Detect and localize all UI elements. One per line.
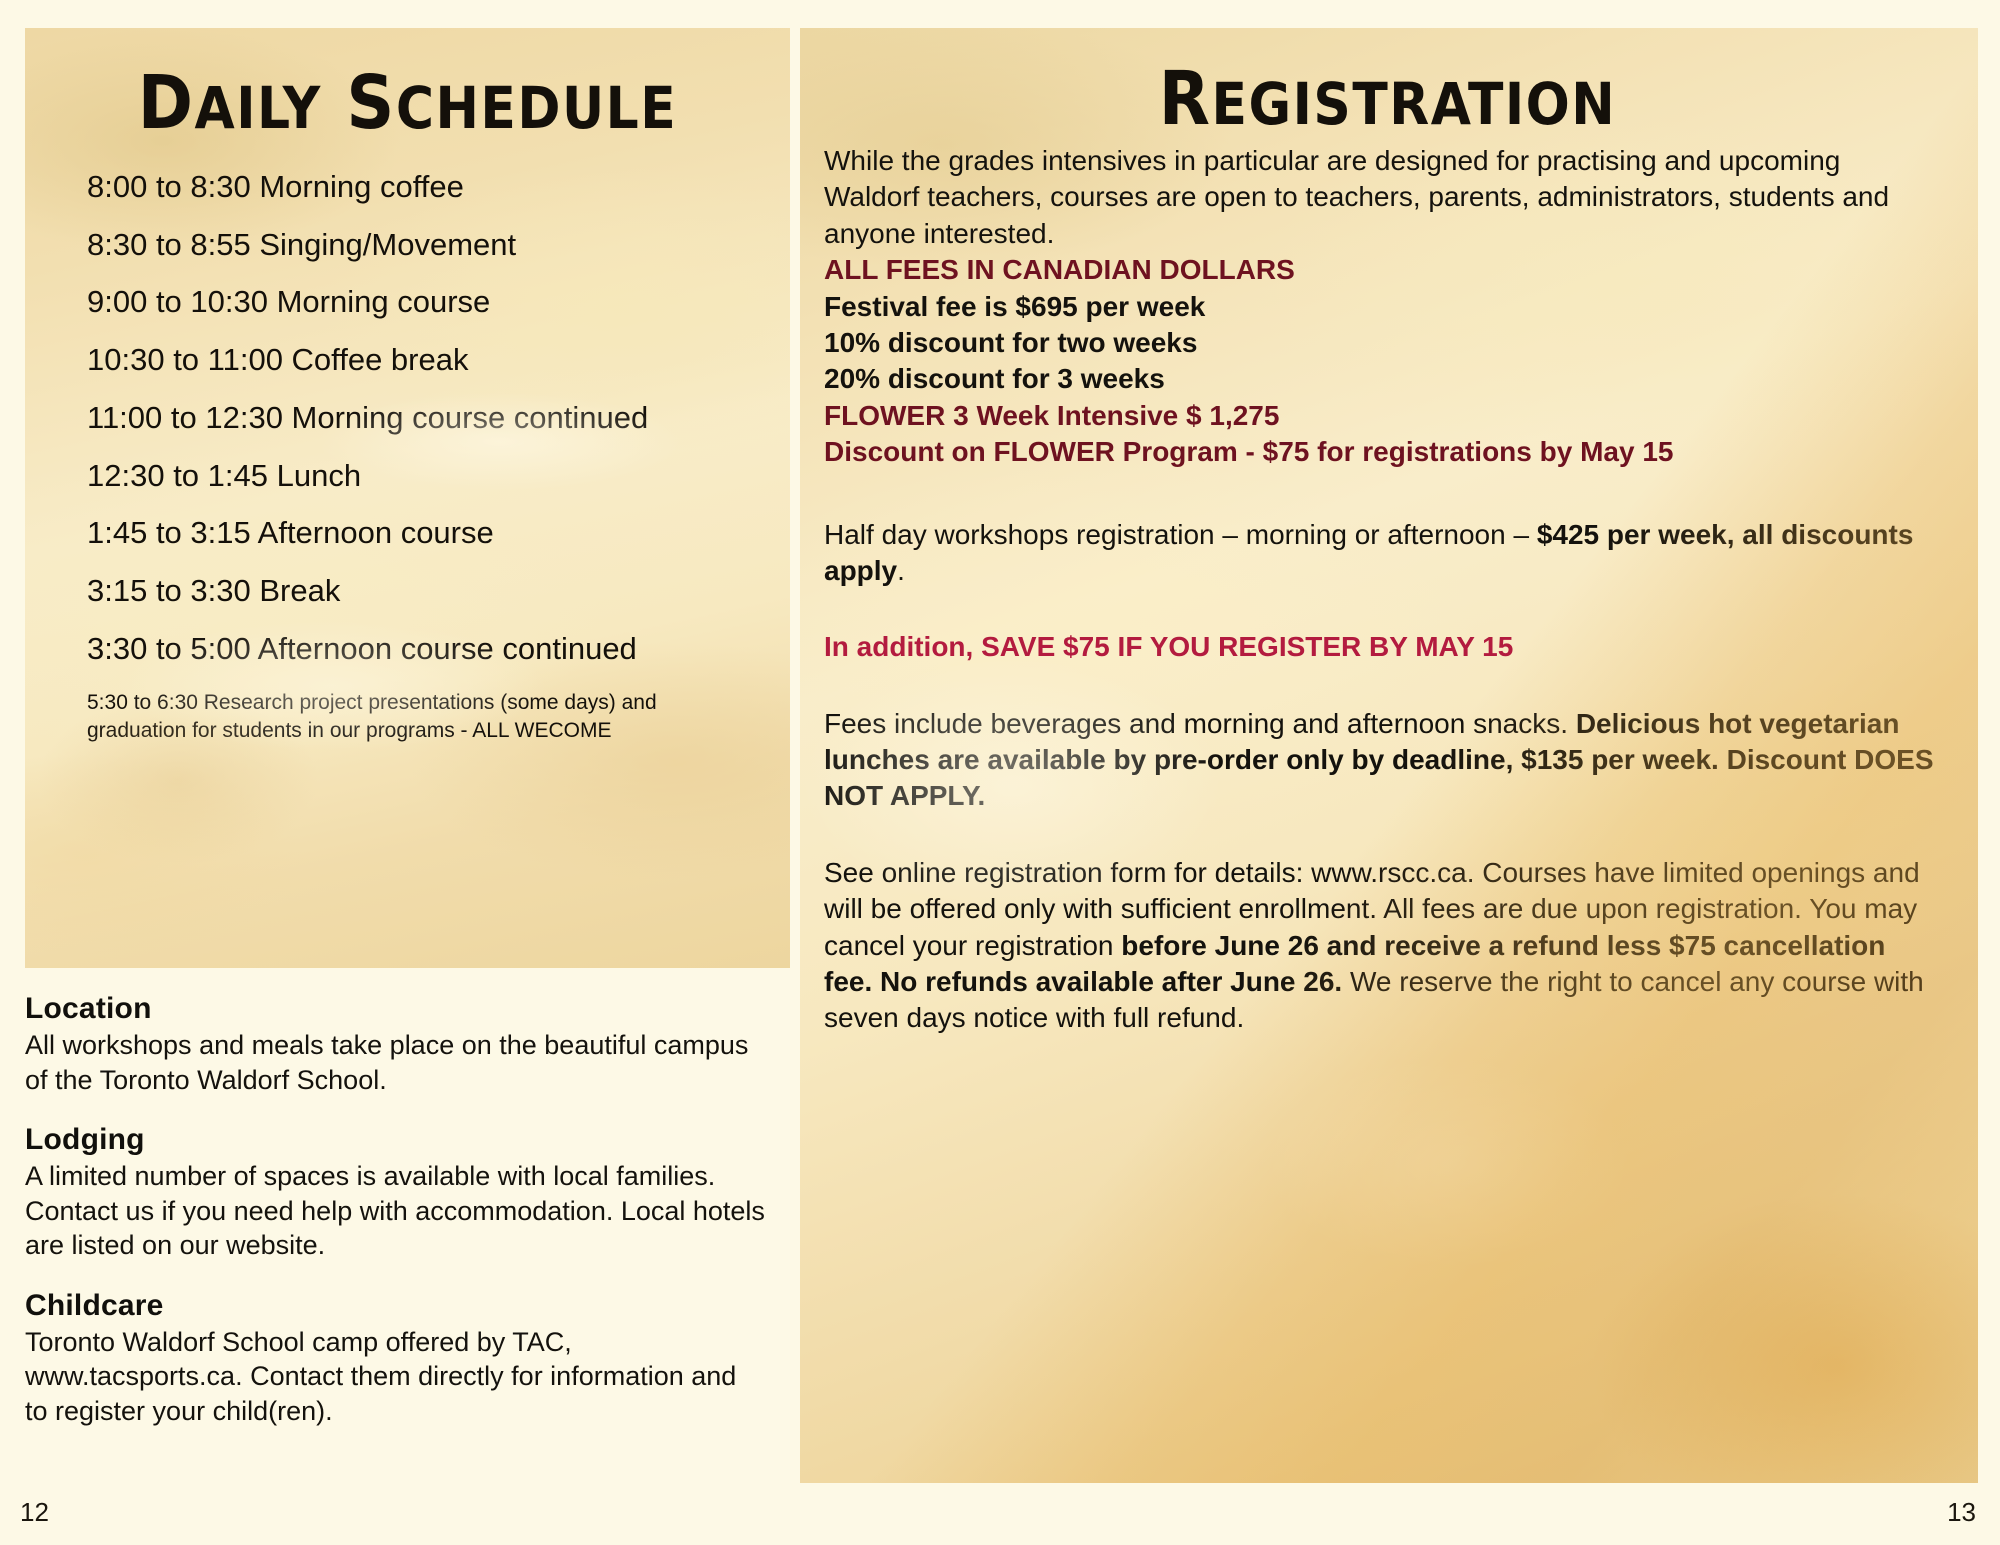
- section-body-lodging: A limited number of spaces is available …: [25, 1159, 765, 1263]
- title-rest-egistration: EGISTRATION: [1212, 70, 1617, 138]
- title-cap-s: S: [346, 60, 395, 146]
- schedule-item: 12:30 to 1:45 Lunch: [87, 459, 777, 494]
- schedule-item: 8:00 to 8:30 Morning coffee: [87, 170, 777, 205]
- left-info-sections: Location All workshops and meals take pl…: [25, 992, 765, 1428]
- page-left: DAILY SCHEDULE 8:00 to 8:30 Morning coff…: [0, 0, 790, 1545]
- page-number-left: 12: [20, 1497, 49, 1528]
- fee-line-two-weeks: 10% discount for two weeks: [824, 325, 1934, 361]
- page-right: REGISTRATION While the grades intensives…: [800, 0, 2000, 1545]
- section-heading-lodging: Lodging: [25, 1123, 765, 1157]
- parchment-panel-right: REGISTRATION While the grades intensives…: [800, 28, 1978, 1483]
- page-title-registration: REGISTRATION: [800, 62, 1975, 136]
- parchment-panel-left: DAILY SCHEDULE 8:00 to 8:30 Morning coff…: [25, 28, 790, 968]
- brochure-spread: DAILY SCHEDULE 8:00 to 8:30 Morning coff…: [0, 0, 2000, 1545]
- fee-line-festival: Festival fee is $695 per week: [824, 289, 1934, 325]
- half-day-text-tail: .: [897, 555, 905, 586]
- spacer: [824, 589, 1934, 629]
- fee-line-three-weeks: 20% discount for 3 weeks: [824, 361, 1934, 397]
- spacer: [824, 815, 1934, 855]
- half-day-workshops-line: Half day workshops registration – mornin…: [824, 517, 1934, 590]
- schedule-item: 11:00 to 12:30 Morning course continued: [87, 401, 777, 436]
- registration-intro: While the grades intensives in particula…: [824, 143, 1934, 252]
- title-rest-aily: AILY: [195, 74, 322, 142]
- section-body-location: All workshops and meals take place on th…: [25, 1028, 765, 1097]
- title-rest-chedule: CHEDULE: [396, 74, 677, 142]
- spacer: [824, 471, 1934, 517]
- fees-include-text-lead: Fees include beverages and morning and a…: [824, 708, 1576, 739]
- schedule-item: 3:15 to 3:30 Break: [87, 574, 777, 609]
- page-title-daily-schedule: DAILY SCHEDULE: [25, 66, 790, 140]
- schedule-item: 8:30 to 8:55 Singing/Movement: [87, 228, 777, 263]
- spacer: [824, 666, 1934, 706]
- section-heading-location: Location: [25, 992, 765, 1026]
- schedule-item: 1:45 to 3:15 Afternoon course: [87, 516, 777, 551]
- section-heading-childcare: Childcare: [25, 1289, 765, 1323]
- half-day-text-lead: Half day workshops registration – mornin…: [824, 519, 1537, 550]
- daily-schedule-list: 8:00 to 8:30 Morning coffee 8:30 to 8:55…: [87, 170, 777, 745]
- registration-content: While the grades intensives in particula…: [824, 143, 1934, 1037]
- title-cap-d: D: [138, 60, 195, 146]
- fees-include-paragraph: Fees include beverages and morning and a…: [824, 706, 1934, 815]
- early-registration-savings-line: In addition, SAVE $75 IF YOU REGISTER BY…: [824, 629, 1934, 665]
- flower-intensive-line: FLOWER 3 Week Intensive $ 1,275: [824, 398, 1934, 434]
- page-number-right: 13: [1947, 1497, 1976, 1528]
- schedule-item: 3:30 to 5:00 Afternoon course continued: [87, 632, 777, 667]
- title-cap-r: R: [1159, 56, 1212, 142]
- schedule-item: 10:30 to 11:00 Coffee break: [87, 343, 777, 378]
- schedule-item: 9:00 to 10:30 Morning course: [87, 285, 777, 320]
- registration-details-paragraph: See online registration form for details…: [824, 855, 1934, 1037]
- flower-discount-line: Discount on FLOWER Program - $75 for reg…: [824, 434, 1934, 470]
- section-body-childcare: Toronto Waldorf School camp offered by T…: [25, 1325, 765, 1429]
- fees-currency-heading: ALL FEES IN CANADIAN DOLLARS: [824, 252, 1934, 288]
- schedule-footnote: 5:30 to 6:30 Research project presentati…: [87, 689, 707, 744]
